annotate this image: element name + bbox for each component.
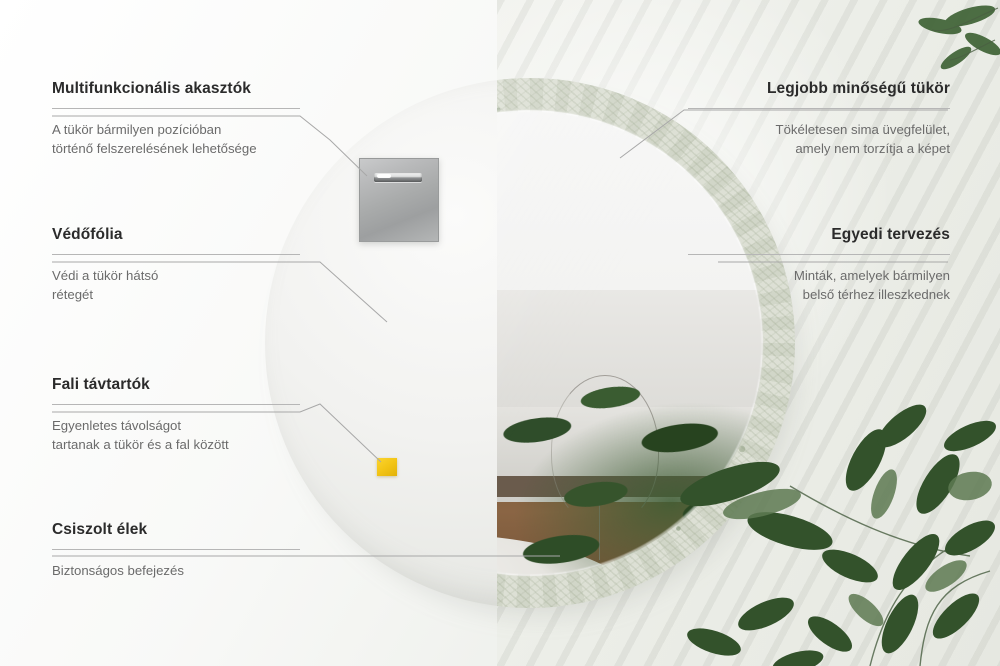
callout-title: Multifunkcionális akasztók <box>52 80 300 99</box>
callout-csiszolt-elek: Csiszolt élek Biztonságos befejezés <box>52 521 300 580</box>
callout-divider <box>52 108 300 109</box>
callout-title: Egyedi tervezés <box>688 226 950 245</box>
callout-body: Tökéletesen sima üvegfelület, amely nem … <box>688 120 950 158</box>
callout-divider <box>52 254 300 255</box>
callout-body: Minták, amelyek bármilyen belső térhez i… <box>688 266 950 304</box>
wall-hanger-plate <box>359 158 439 242</box>
hanger-keyhole-slot <box>374 173 422 182</box>
callout-divider <box>52 549 300 550</box>
callout-title: Védőfólia <box>52 226 300 245</box>
callout-multifunkcionalis-akasztok: Multifunkcionális akasztók A tükör bármi… <box>52 80 300 158</box>
product-infographic: Multifunkcionális akasztók A tükör bármi… <box>0 0 1000 666</box>
wall-spacer <box>377 458 397 476</box>
callout-title: Csiszolt élek <box>52 521 300 540</box>
callout-body: Biztonságos befejezés <box>52 561 300 580</box>
callout-divider <box>52 404 300 405</box>
callout-divider <box>688 108 950 109</box>
callout-body: Védi a tükör hátsó rétegét <box>52 266 300 304</box>
callout-body: Egyenletes távolságot tartanak a tükör é… <box>52 416 300 454</box>
callout-title: Legjobb minőségű tükör <box>688 80 950 99</box>
callout-legjobb-minosegu-tukor: Legjobb minőségű tükör Tökéletesen sima … <box>688 80 950 158</box>
callout-vedofolia: Védőfólia Védi a tükör hátsó rétegét <box>52 226 300 304</box>
callout-body: A tükör bármilyen pozícióban történő fel… <box>52 120 300 158</box>
callout-egyedi-tervezes: Egyedi tervezés Minták, amelyek bármilye… <box>688 226 950 304</box>
callout-fali-tavtartok: Fali távtartók Egyenletes távolságot tar… <box>52 376 300 454</box>
callout-title: Fali távtartók <box>52 376 300 395</box>
callout-divider <box>688 254 950 255</box>
